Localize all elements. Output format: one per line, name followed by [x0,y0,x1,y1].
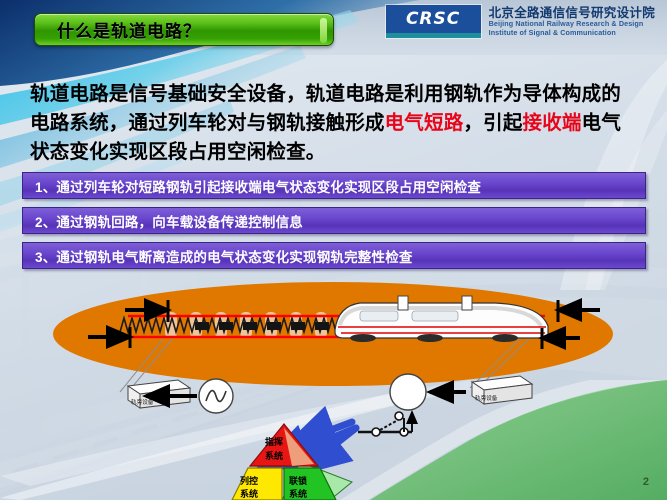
right-device-label: 轨旁设备 [475,394,498,402]
bullet-bar-1: 1、通过列车轮对短路钢轨引起接收端电气状态变化实现区段占用空闲检查 [22,172,646,199]
pyramid-right-label-line2: 系统 [289,488,307,499]
crsc-logo-mark: CRSC [386,5,481,38]
paragraph-highlight-receiver: 接收端 [523,112,582,134]
pyramid-left-label-line1: 列控 [240,475,258,486]
page-title: 什么是轨道电路？ [35,17,201,42]
paragraph-segment-2: ，引起 [463,112,522,134]
company-logo: CRSC 北京全路通信信号研究设计院 Beijing National Rail… [386,5,655,38]
pyramid-right-label-line1: 联锁 [289,475,307,486]
bullet-bar-list: 1、通过列车轮对短路钢轨引起接收端电气状态变化实现区段占用空闲检查 2、通过钢轨… [22,172,646,277]
bullet-bar-2-label: 2、通过钢轨回路，向车载设备传递控制信息 [23,211,303,231]
company-name-en-line2: Institute of Signal & Communication [489,29,655,37]
relay-switch-symbol [358,412,412,436]
bullet-bar-3: 3、通过钢轨电气断离造成的电气状态变化实现钢轨完整性检查 [22,242,646,269]
paragraph-highlight-short-circuit: 电气短路 [385,112,464,134]
pyramid-top-label-line1: 指挥 [265,436,283,447]
bullet-bar-2: 2、通过钢轨回路，向车载设备传递控制信息 [22,207,646,234]
page-number: 2 [643,476,649,488]
slide-canvas: 什么是轨道电路？ CRSC 北京全路通信信号研究设计院 Beijing Nati… [0,0,667,500]
body-paragraph: 轨道电路是信号基础安全设备，轨道电路是利用钢轨作为导体构成的电路系统，通过列车轮… [30,80,640,167]
receiver-symbol [390,374,426,410]
company-name-cn: 北京全路通信信号研究设计院 [489,6,655,20]
company-name-block: 北京全路通信信号研究设计院 Beijing National Railway R… [489,6,655,36]
bullet-bar-1-label: 1、通过列车轮对短路钢轨引起接收端电气状态变化实现区段占用空闲检查 [23,176,481,196]
crsc-logo-text: CRSC [406,9,460,29]
right-trackside-device: 轨旁设备 [472,376,532,404]
signal-generator-symbol [199,379,233,413]
pyramid-left-label-line2: 系统 [240,488,258,499]
left-device-label: 轨旁设备 [131,398,154,406]
slide-title-bar: 什么是轨道电路？ [34,13,334,46]
track-circuit-diagram: 轨旁设备 轨旁设备 [0,282,667,500]
bullet-bar-3-label: 3、通过钢轨电气断离造成的电气状态变化实现钢轨完整性检查 [23,246,413,266]
pyramid-top-label-line2: 系统 [265,450,283,461]
